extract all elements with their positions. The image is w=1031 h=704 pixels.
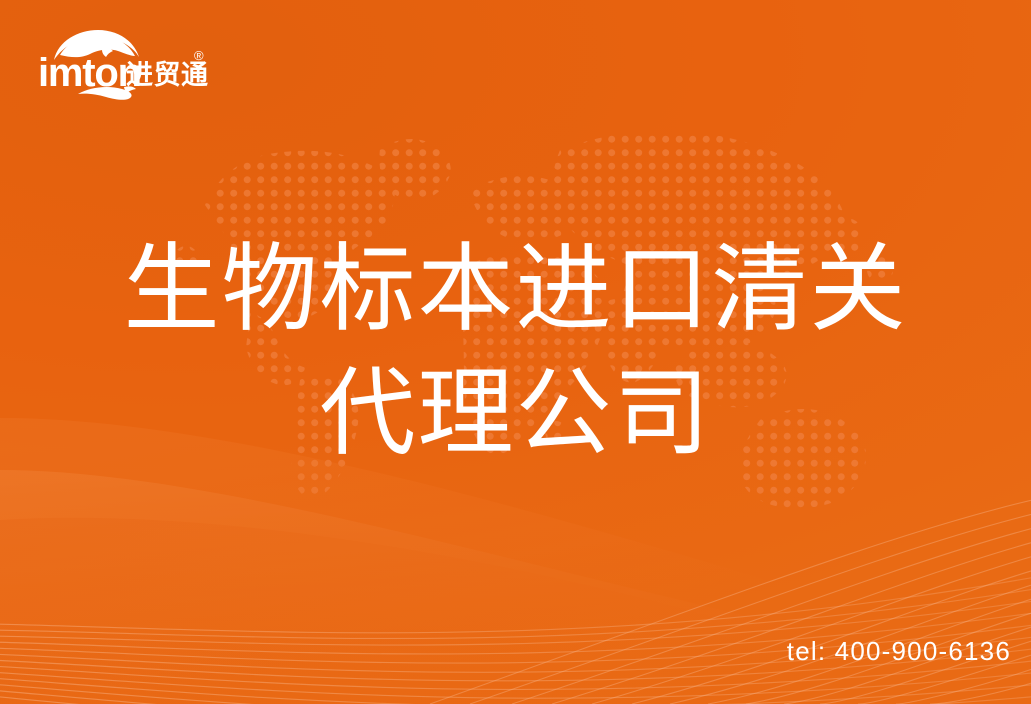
headline-line-1: 生物标本进口清关: [0, 228, 1031, 352]
registered-trademark-icon: ®: [194, 48, 204, 63]
contact-phone[interactable]: tel: 400-900-6136: [787, 636, 1011, 667]
logo-svg: imton 进贸通 ®: [38, 27, 223, 101]
headline-line-2: 代理公司: [0, 352, 1031, 476]
logo[interactable]: imton 进贸通 ®: [38, 27, 223, 101]
promo-banner: imton 进贸通 ® 生物标本进口清关 代理公司 tel: 400-900-6…: [0, 0, 1031, 704]
logo-chinese-text: 进贸通: [126, 60, 209, 91]
page-title: 生物标本进口清关 代理公司: [0, 228, 1031, 476]
